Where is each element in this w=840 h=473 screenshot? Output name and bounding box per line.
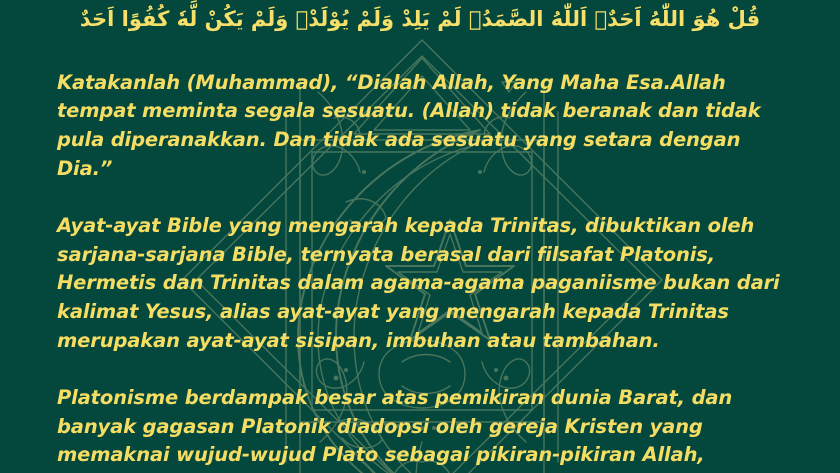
paragraph-platonism-commentary: Platonisme berdampak besar atas pemikira… (57, 384, 783, 473)
arabic-verse-al-ikhlas: قُلْ هُوَ اللّٰهُ اَحَدٌۚ اَللّٰهُ الصَّ… (57, 0, 783, 36)
paragraph-trinity-commentary: Ayat-ayat Bible yang mengarah kepada Tri… (57, 212, 783, 356)
slide-content: قُلْ هُوَ اللّٰهُ اَحَدٌۚ اَللّٰهُ الصَّ… (0, 0, 840, 473)
paragraph-translation: Katakanlah (Muhammad), “Dialah Allah, Ya… (57, 69, 783, 184)
slide-canvas: قُلْ هُوَ اللّٰهُ اَحَدٌۚ اَللّٰهُ الصَّ… (0, 0, 840, 473)
